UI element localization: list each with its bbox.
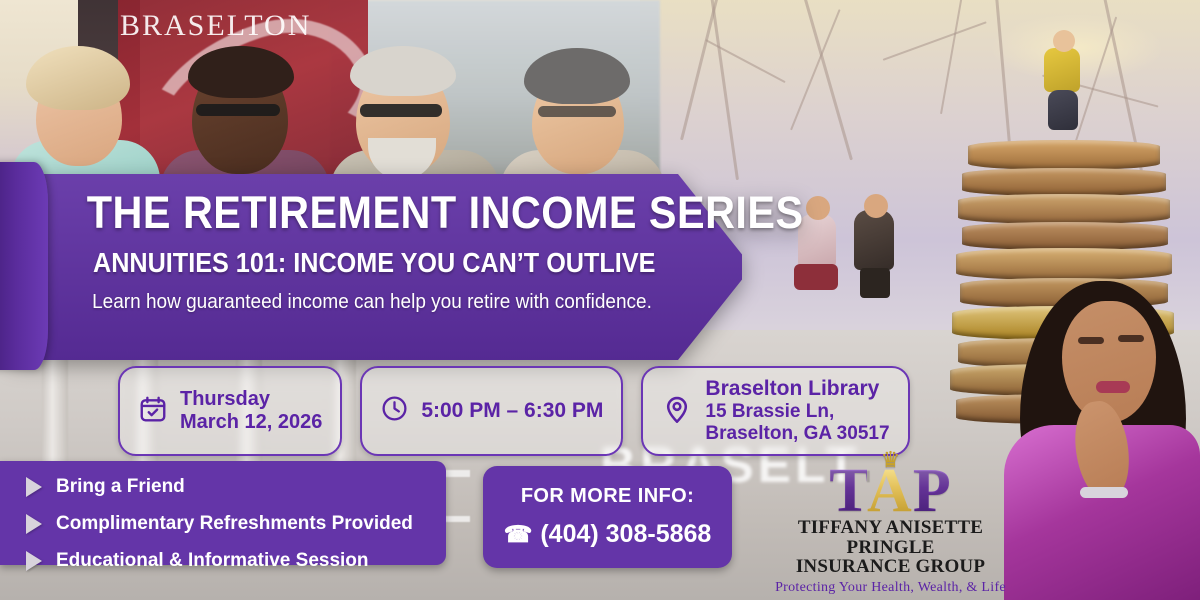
event-details-chips: Thursday March 12, 2026 5:00 PM – 6:30 P… — [118, 366, 910, 456]
logo-letter-p: P — [913, 457, 952, 525]
list-item: Complimentary Refreshments Provided — [0, 508, 446, 540]
event-flyer: BRASELTON BRASELT BRA — [0, 0, 1200, 600]
clock-icon — [380, 394, 409, 428]
telephone-icon: ☎ — [504, 523, 533, 546]
chip-location-text: Braselton Library 15 Brassie Ln, Braselt… — [705, 377, 889, 445]
logo-mark: TAP — [768, 463, 1013, 520]
photo-figurine-couple — [790, 196, 920, 326]
logo-name-line2: INSURANCE GROUP — [768, 557, 1013, 576]
map-pin-icon — [661, 393, 693, 430]
contact-box: FOR MORE INFO: ☎ (404) 308-5868 — [483, 466, 732, 568]
chip-location-line1: Braselton Library — [705, 377, 879, 400]
list-item-label: Complimentary Refreshments Provided — [56, 513, 413, 535]
headline-banner: THE RETIREMENT INCOME SERIES ANNUITIES 1… — [10, 174, 742, 360]
list-item-label: Bring a Friend — [56, 476, 185, 498]
chip-time-text: 5:00 PM – 6:30 PM — [421, 399, 603, 423]
photo-agent-portrait — [1004, 275, 1200, 600]
event-tagline: Learn how guaranteed income can help you… — [78, 291, 667, 314]
list-item-label: Educational & Informative Session — [56, 550, 369, 572]
company-logo: ♛ TAP TIFFANY ANISETTE PRINGLE INSURANCE… — [768, 452, 1013, 596]
chip-location-line3: Braselton, GA 30517 — [705, 423, 889, 445]
calendar-check-icon — [138, 394, 168, 429]
logo-name-line1: TIFFANY ANISETTE PRINGLE — [798, 517, 983, 557]
logo-letter-t: T — [829, 457, 867, 525]
triangle-bullet-icon — [26, 514, 42, 534]
chip-location-line2: 15 Brassie Ln, — [705, 401, 889, 423]
list-item: Bring a Friend — [0, 471, 446, 503]
list-item: Educational & Informative Session — [0, 545, 446, 577]
logo-letter-a: A — [867, 457, 913, 525]
contact-phone-row[interactable]: ☎ (404) 308-5868 — [504, 520, 712, 549]
chip-time[interactable]: 5:00 PM – 6:30 PM — [360, 366, 623, 456]
event-title: THE RETIREMENT INCOME SERIES — [87, 190, 657, 236]
benefits-list: Bring a Friend Complimentary Refreshment… — [0, 461, 446, 565]
logo-company-name: TIFFANY ANISETTE PRINGLE INSURANCE GROUP — [768, 518, 1013, 576]
triangle-bullet-icon — [26, 477, 42, 497]
chip-date-line1: Thursday — [180, 388, 270, 410]
background-banner-word: BRASELTON — [120, 12, 180, 41]
contact-phone-number: (404) 308-5868 — [540, 520, 711, 549]
chip-date[interactable]: Thursday March 12, 2026 — [118, 366, 342, 456]
logo-motto: Protecting Your Health, Wealth, & Life — [768, 580, 1013, 596]
triangle-bullet-icon — [26, 551, 42, 571]
ribbon-curl — [0, 162, 48, 370]
chip-date-line2: March 12, 2026 — [180, 411, 322, 434]
contact-heading: FOR MORE INFO: — [521, 485, 694, 508]
event-subtitle: ANNUITIES 101: INCOME YOU CAN’T OUTLIVE — [93, 248, 651, 277]
chip-date-text: Thursday March 12, 2026 — [180, 388, 322, 434]
chip-location[interactable]: Braselton Library 15 Brassie Ln, Braselt… — [641, 366, 909, 456]
